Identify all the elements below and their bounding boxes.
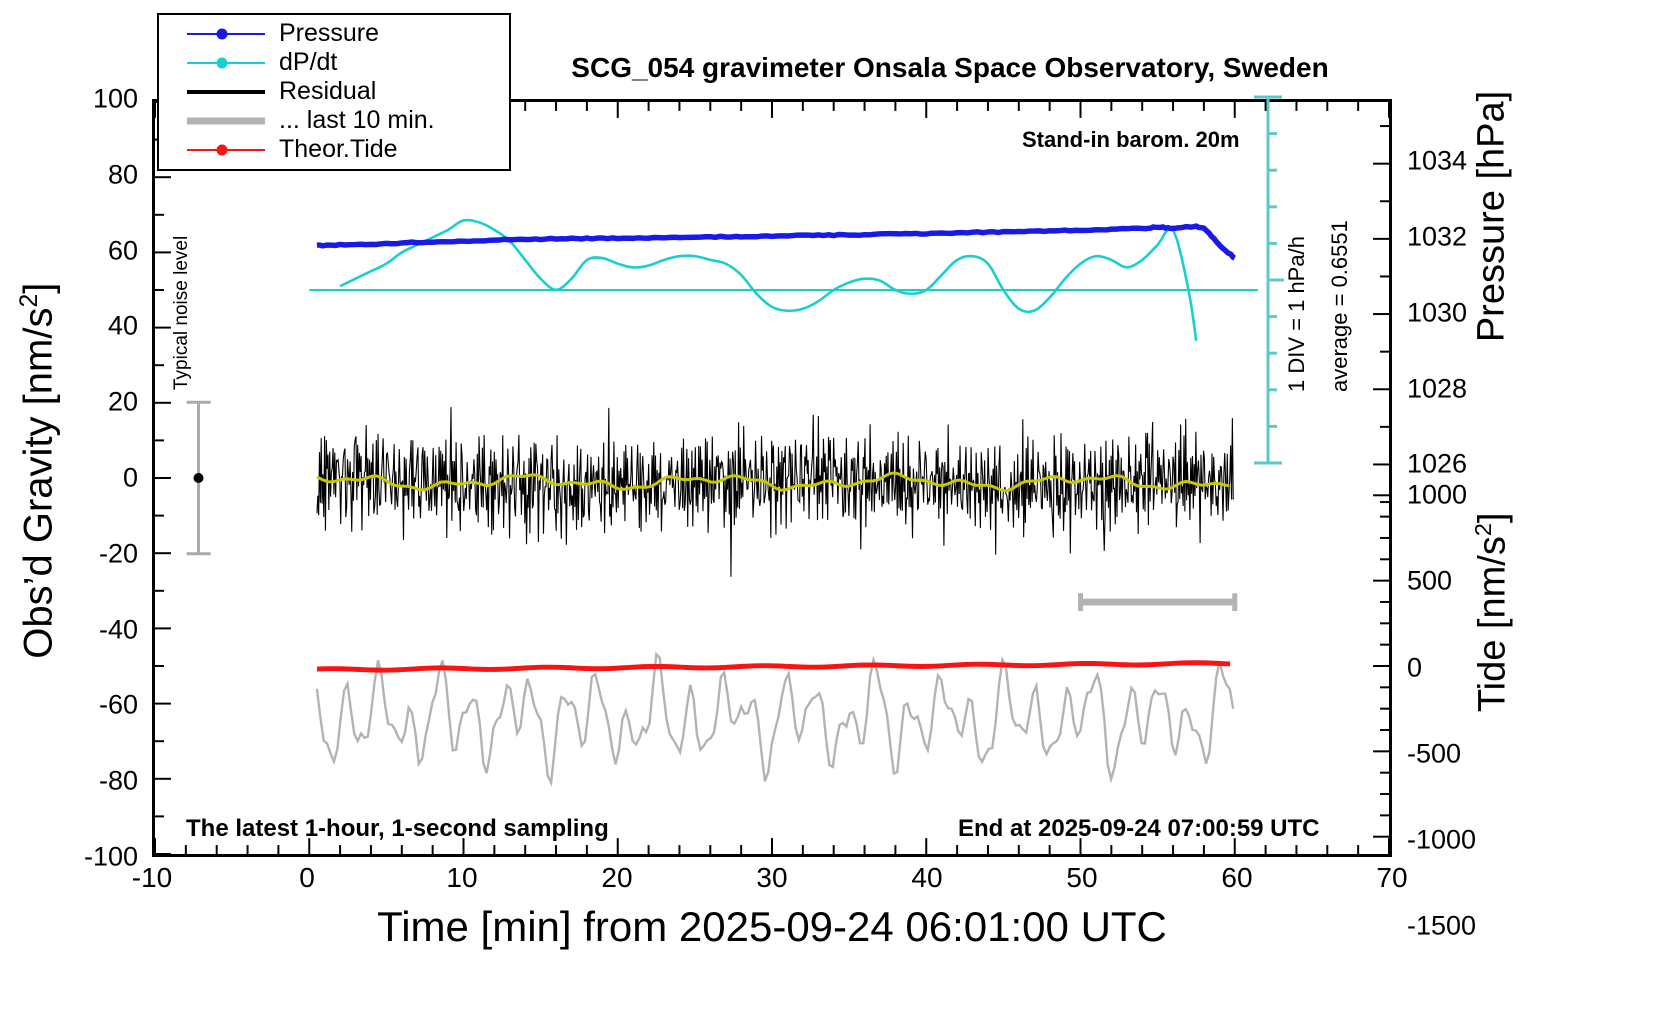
legend-line (187, 117, 265, 124)
annotation-div-scale: 1 DIV = 1 hPa/h (1284, 142, 1310, 392)
plot-svg (155, 102, 1389, 854)
data-series (309, 220, 1258, 783)
y-axis-left-title-text: Obs’d Gravity [nm/s2] (17, 283, 61, 659)
y-axis-left-tick-label: 20 (108, 387, 138, 418)
legend-label: Pressure (279, 19, 379, 48)
y-axis-tide-title-text: Tide [nm/s2] (1471, 513, 1513, 713)
legend: PressuredP/dtResidual... last 10 min.The… (157, 13, 511, 171)
y-axis-pressure-title-text: Pressure [hPa] (1471, 91, 1513, 342)
chart-page: SCG_054 gravimeter Onsala Space Observat… (0, 0, 1660, 1020)
y-axis-left-tick-label: 0 (123, 463, 138, 494)
legend-item[interactable]: Residual (159, 77, 509, 106)
y-axis-tide-tick-label: -1000 (1407, 824, 1476, 855)
x-axis-title: Time [min] from 2025-09-24 06:01:00 UTC (152, 903, 1392, 951)
y-axis-left-tick-label: -60 (99, 690, 138, 721)
y-axis-left-tick-label: 80 (108, 159, 138, 190)
y-axis-tide-tick-label: -500 (1407, 738, 1461, 769)
page-title: SCG_054 gravimeter Onsala Space Observat… (520, 52, 1380, 84)
annotation-noise-level: Typical noise level (171, 160, 193, 390)
x-axis-tick-label: 20 (601, 862, 632, 894)
y-axis-left-tick-label: -80 (99, 766, 138, 797)
x-axis-tick-label: 0 (299, 862, 315, 894)
x-axis-tick-label: 70 (1376, 862, 1407, 894)
y-axis-tide-tick-label: 1000 (1407, 480, 1467, 511)
legend-item[interactable]: Pressure (159, 19, 509, 48)
y-axis-tide-tick-label: -1500 (1407, 910, 1476, 941)
y-axis-tide-title: Tide [nm/s2] (1470, 412, 1515, 812)
legend-swatch-pressure (187, 24, 265, 44)
y-axis-pressure-title: Pressure [hPa] (1471, 17, 1514, 417)
legend-swatch-theor-tide (187, 140, 265, 160)
legend-marker-dot (217, 57, 228, 68)
legend-line (187, 90, 265, 94)
y-axis-left-tick-label: -40 (99, 614, 138, 645)
annotation-sampling: The latest 1-hour, 1-second sampling (186, 815, 609, 843)
x-axis-tick-label: -10 (132, 862, 172, 894)
x-axis-tick-label: 60 (1221, 862, 1252, 894)
legend-swatch-last-10-min (187, 111, 265, 131)
legend-label: Theor.Tide (279, 135, 398, 164)
legend-label: Residual (279, 77, 376, 106)
x-axis-tick-label: 10 (446, 862, 477, 894)
legend-item[interactable]: Theor.Tide (159, 135, 509, 164)
legend-swatch-dp-dt (187, 53, 265, 73)
legend-marker-dot (217, 144, 228, 155)
legend-label: ... last 10 min. (279, 106, 435, 135)
y-axis-tide-tick-label: 500 (1407, 566, 1452, 597)
y-axis-left-tick-label: 60 (108, 235, 138, 266)
legend-item[interactable]: dP/dt (159, 48, 509, 77)
y-axis-left-tick-label: 40 (108, 311, 138, 342)
legend-swatch-residual (187, 82, 265, 102)
x-axis-tick-label: 30 (756, 862, 787, 894)
y-axis-left-tick-label: -100 (84, 842, 138, 873)
x-axis-ticks: -10010203040506070 (152, 862, 1392, 902)
y-axis-left-tick-label: 100 (93, 84, 138, 115)
y-axis-left-tick-label: -20 (99, 538, 138, 569)
x-axis-tick-label: 50 (1066, 862, 1097, 894)
y-axis-left-title: Obs’d Gravity [nm/s2] (16, 121, 61, 821)
y-axis-tide-tick-label: 0 (1407, 652, 1422, 683)
x-axis-tick-label: 40 (911, 862, 942, 894)
legend-marker-dot (217, 28, 228, 39)
plot-area (152, 99, 1392, 857)
annotation-average: average = 0.6551 (1327, 142, 1353, 392)
legend-label: dP/dt (279, 48, 337, 77)
annotation-barometer: Stand-in barom. 20m (1022, 127, 1240, 153)
legend-item[interactable]: ... last 10 min. (159, 106, 509, 135)
annotation-end-time: End at 2025-09-24 07:00:59 UTC (958, 815, 1320, 843)
